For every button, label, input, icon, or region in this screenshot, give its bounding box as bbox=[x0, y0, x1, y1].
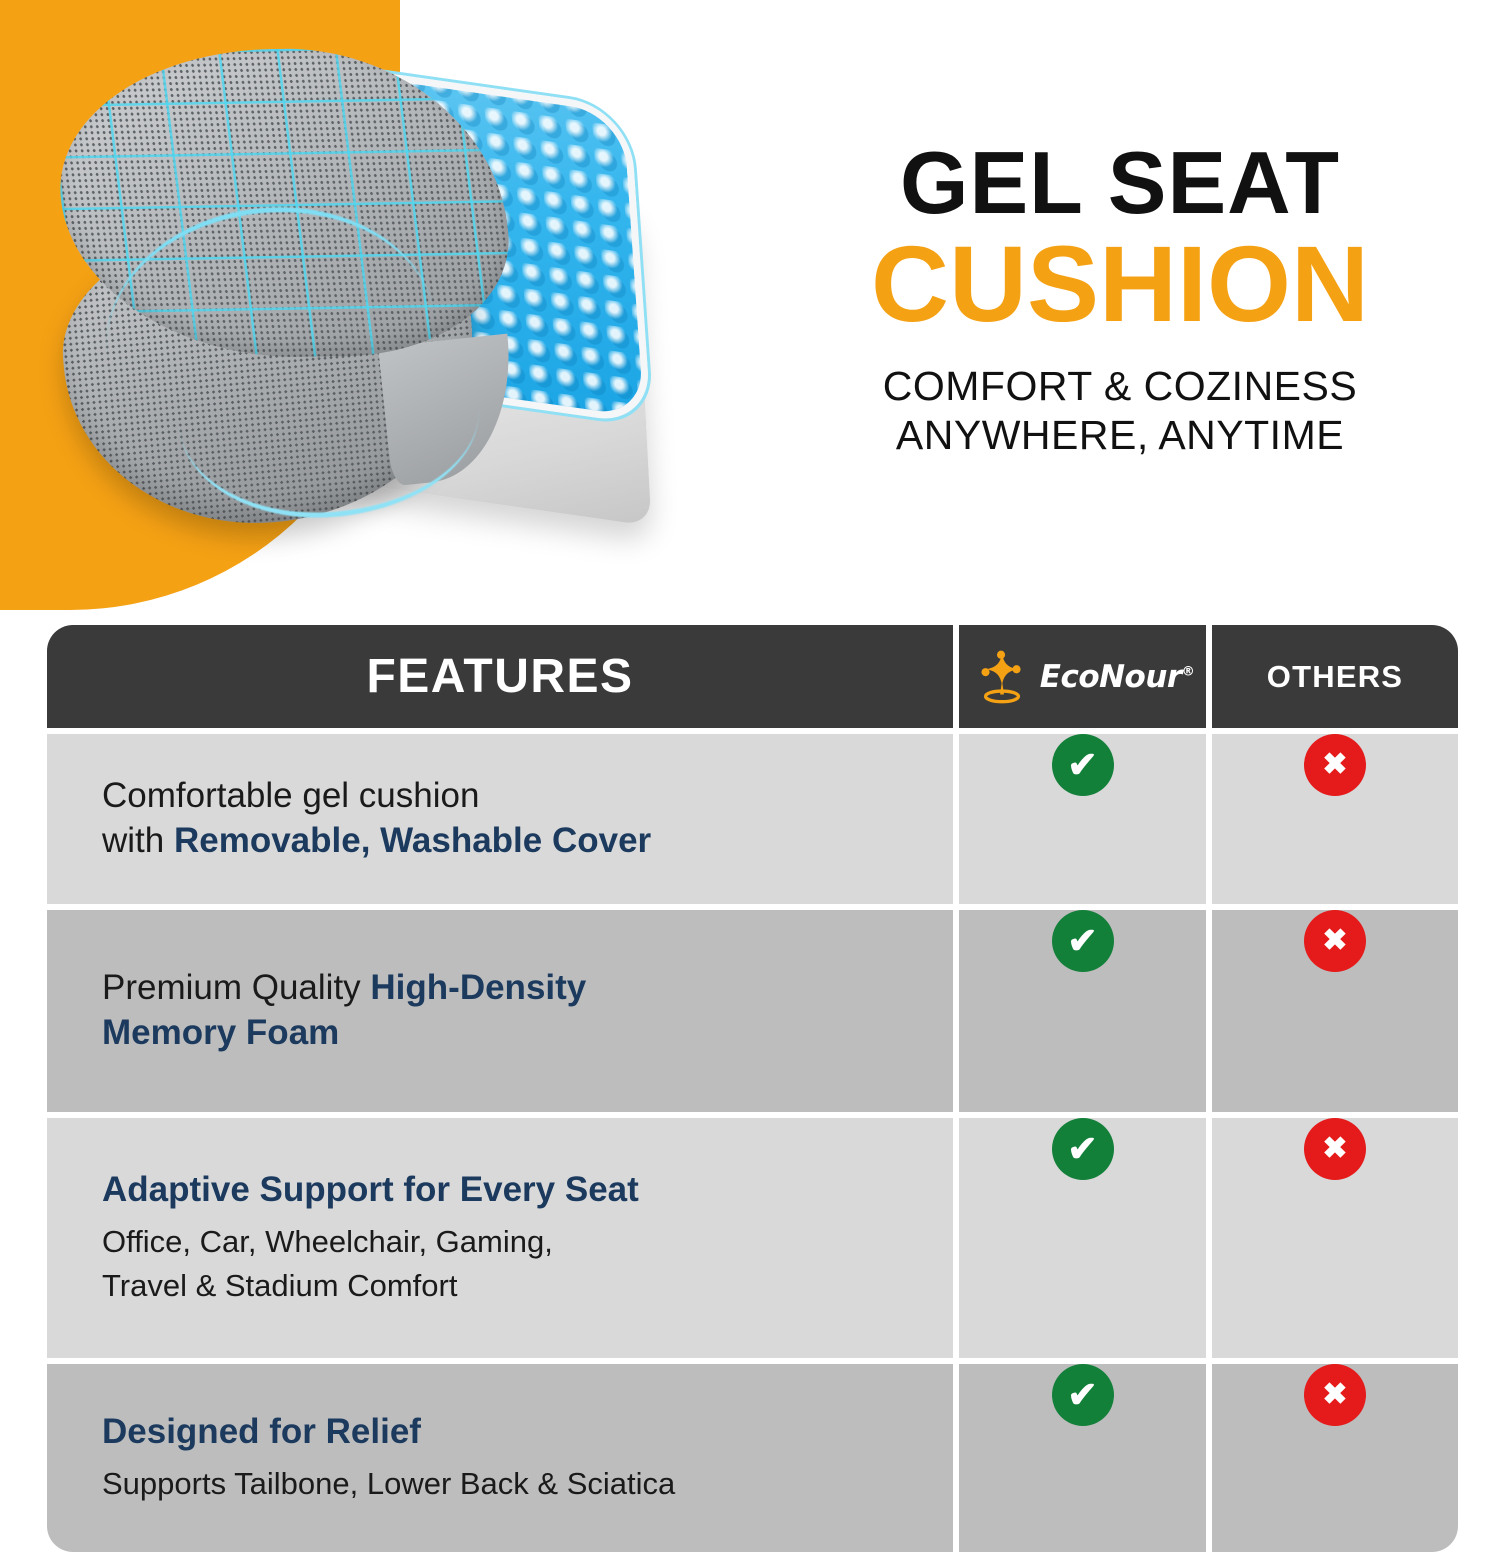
check-icon: ✔ bbox=[1052, 910, 1114, 972]
table-header-others: OTHERS bbox=[1206, 625, 1458, 728]
feature-text: Premium Quality bbox=[102, 968, 370, 1007]
feature-text: Supports Tailbone, Lower Back & Sciatica bbox=[102, 1466, 675, 1501]
product-image bbox=[55, 22, 755, 582]
subtitle-line-2: ANYWHERE, ANYTIME bbox=[770, 411, 1470, 459]
subtitle-line-1: COMFORT & COZINESS bbox=[770, 362, 1470, 410]
econour-logo-mark bbox=[971, 646, 1033, 708]
feature-line: with Removable, Washable Cover bbox=[102, 819, 913, 864]
feature-emphasis: Removable, Washable Cover bbox=[174, 821, 651, 860]
headline-block: GEL SEAT CUSHION COMFORT & COZINESS ANYW… bbox=[770, 140, 1470, 459]
cross-icon: ✖ bbox=[1304, 1118, 1366, 1180]
others-header-label: OTHERS bbox=[1267, 659, 1403, 695]
feature-text: Comfortable gel cushion bbox=[102, 776, 479, 815]
feature-line: Premium Quality High-Density bbox=[102, 966, 913, 1011]
table-header-features: FEATURES bbox=[47, 625, 953, 728]
feature-emphasis: Memory Foam bbox=[102, 1013, 339, 1052]
features-header-label: FEATURES bbox=[366, 649, 633, 704]
feature-heading: Designed for Relief bbox=[102, 1410, 913, 1455]
table-row-feature: Designed for ReliefSupports Tailbone, Lo… bbox=[47, 1358, 953, 1552]
table-cell-econour: ✔ bbox=[953, 1358, 1206, 1552]
feature-text: with bbox=[102, 821, 174, 860]
table-row-feature: Adaptive Support for Every SeatOffice, C… bbox=[47, 1112, 953, 1358]
table-cell-econour: ✔ bbox=[953, 728, 1206, 904]
headline-line-1: GEL SEAT bbox=[770, 140, 1470, 226]
feature-line: Travel & Stadium Comfort bbox=[102, 1264, 913, 1308]
feature-line: Comfortable gel cushion bbox=[102, 774, 913, 819]
cross-icon: ✖ bbox=[1304, 734, 1366, 796]
comparison-table: FEATURESEcoNour®OTHERSComfortable gel cu… bbox=[47, 625, 1458, 1482]
table-cell-others: ✖ bbox=[1206, 904, 1458, 1112]
feature-text: Travel & Stadium Comfort bbox=[102, 1268, 457, 1303]
table-row-feature: Premium Quality High-DensityMemory Foam bbox=[47, 904, 953, 1112]
table-cell-others: ✖ bbox=[1206, 1112, 1458, 1358]
table-cell-others: ✖ bbox=[1206, 1358, 1458, 1552]
table-cell-econour: ✔ bbox=[953, 904, 1206, 1112]
headline-subtitle: COMFORT & COZINESS ANYWHERE, ANYTIME bbox=[770, 362, 1470, 459]
table-cell-others: ✖ bbox=[1206, 728, 1458, 904]
headline-line-2: CUSHION bbox=[770, 230, 1470, 338]
cross-icon: ✖ bbox=[1304, 1364, 1366, 1426]
feature-line: Memory Foam bbox=[102, 1011, 913, 1056]
table-row-feature: Comfortable gel cushionwith Removable, W… bbox=[47, 728, 953, 904]
table-header-econour: EcoNour® bbox=[953, 625, 1206, 728]
check-icon: ✔ bbox=[1052, 1364, 1114, 1426]
feature-heading: Adaptive Support for Every Seat bbox=[102, 1168, 913, 1213]
check-icon: ✔ bbox=[1052, 734, 1114, 796]
feature-line: Office, Car, Wheelchair, Gaming, bbox=[102, 1220, 913, 1264]
check-icon: ✔ bbox=[1052, 1118, 1114, 1180]
feature-text: Office, Car, Wheelchair, Gaming, bbox=[102, 1224, 553, 1259]
econour-logo-text: EcoNour® bbox=[1040, 659, 1194, 695]
hero-section: GEL SEAT CUSHION COMFORT & COZINESS ANYW… bbox=[0, 0, 1493, 625]
feature-emphasis: High-Density bbox=[370, 968, 586, 1007]
cross-icon: ✖ bbox=[1304, 910, 1366, 972]
table-cell-econour: ✔ bbox=[953, 1112, 1206, 1358]
